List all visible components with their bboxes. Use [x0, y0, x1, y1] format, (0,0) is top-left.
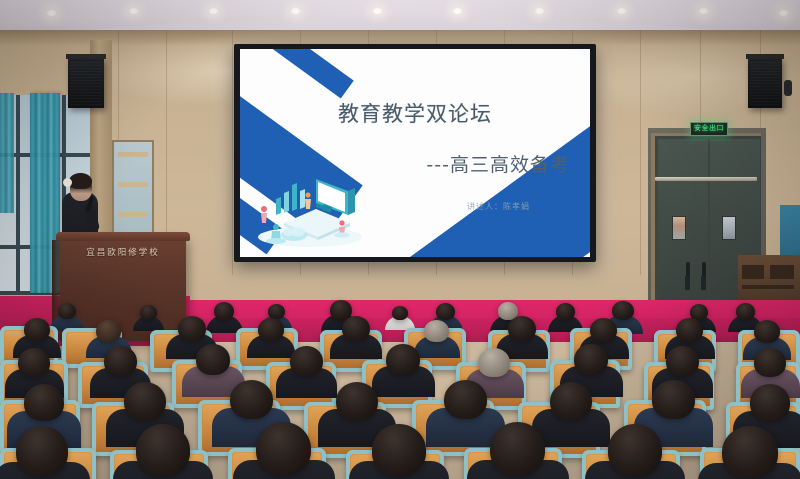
- speaker-grill: [750, 61, 780, 105]
- presenter-hair: [69, 173, 92, 189]
- door-push-bar[interactable]: [655, 177, 757, 181]
- audience-person-head: [490, 422, 545, 475]
- audience-person-head: [444, 380, 487, 419]
- ceiling-downlight: [290, 7, 301, 15]
- slide-presenter: 讲述人：陈孝娟: [240, 201, 530, 212]
- audience-person-head: [24, 384, 64, 421]
- console-shelf: [742, 285, 794, 289]
- ceiling-downlight: [372, 7, 383, 15]
- wall-panel-seam: [232, 30, 233, 275]
- audience-person-head: [104, 346, 137, 376]
- presenter-hair-tie: [63, 178, 72, 187]
- exit-sign-label: 安全出口: [694, 125, 724, 133]
- emergency-exit-sign: 安全出口: [690, 122, 728, 136]
- audience-person-head: [676, 318, 703, 342]
- audience-person-head: [16, 426, 68, 476]
- door-vision-panel-left: [672, 216, 686, 240]
- audience-person-head: [178, 316, 206, 341]
- ceiling-downlight: [128, 7, 139, 15]
- audience-person-head: [372, 424, 426, 476]
- speaker-bracket: [746, 54, 784, 59]
- audience-person-head: [556, 303, 575, 320]
- audience-person-head: [722, 426, 778, 478]
- audience-person-head: [508, 316, 536, 341]
- audience-person-head: [612, 301, 634, 320]
- auditorium-photo: 安全出口: [0, 0, 800, 479]
- audience-person-head: [24, 318, 50, 341]
- console-shelf: [742, 265, 764, 279]
- audience-person-head: [754, 348, 786, 377]
- presentation-slide: 教育教学双论坛 ---高三高效备考 讲述人：陈孝娟: [240, 49, 590, 257]
- audience-person-head: [386, 344, 420, 375]
- door-lock-plate-right[interactable]: [701, 276, 706, 290]
- audience-person-head: [652, 380, 695, 419]
- window-mullion: [16, 95, 20, 295]
- slide-title-wrap: 教育教学双论坛: [240, 101, 590, 127]
- audience-person-head: [550, 382, 592, 420]
- lectern-name-plate-label: 宜昌欧阳修学校: [86, 246, 160, 258]
- door-vision-panel-right: [722, 216, 736, 240]
- speaker-bracket: [66, 54, 106, 59]
- audience-person-head: [58, 303, 76, 319]
- wall-speaker-right: [748, 58, 782, 108]
- audience-person-head: [342, 316, 370, 341]
- audience-person-head: [750, 384, 790, 421]
- audience-person-head: [140, 305, 157, 320]
- projection-screen: 教育教学双论坛 ---高三高效备考 讲述人：陈孝娟: [234, 44, 596, 262]
- audience-person-head: [256, 422, 311, 475]
- window-curtain-far: [0, 93, 14, 213]
- notice-strip: [118, 212, 148, 217]
- audience-person-head: [214, 302, 234, 320]
- wall-panel-seam: [640, 30, 641, 275]
- audience-person-head: [18, 348, 50, 377]
- slide-title: 教育教学双论坛: [240, 101, 590, 127]
- ceiling-downlight: [698, 7, 709, 15]
- audience-person-head: [424, 320, 449, 342]
- speaker-mount: [784, 80, 792, 96]
- ceiling-downlight: [778, 9, 789, 17]
- audience-person-head: [478, 348, 510, 377]
- audience-person-head: [336, 382, 378, 420]
- ceiling-downlight: [46, 9, 57, 17]
- ceiling-downlight: [208, 7, 219, 15]
- notice-strip: [118, 182, 148, 187]
- slide-stripe-top-3: [240, 49, 354, 98]
- audience-person-head: [230, 380, 273, 419]
- console-shelf: [770, 265, 794, 279]
- slide-subtitle: ---高三高效备考: [240, 153, 570, 177]
- audience-person-head: [754, 320, 780, 343]
- audience-person-head: [268, 304, 285, 319]
- ceiling-downlight: [452, 7, 463, 15]
- audience-person-head: [666, 346, 699, 376]
- wall-notice-board: [112, 140, 154, 240]
- wall-speaker-left: [68, 58, 104, 108]
- lectern-name-plate: 宜昌欧阳修学校: [66, 243, 180, 261]
- audience-person-head: [96, 320, 121, 342]
- audience-person-head: [574, 344, 608, 375]
- audience-person-head: [136, 424, 190, 476]
- ceiling-downlight: [534, 7, 545, 15]
- notice-strip: [118, 152, 148, 157]
- audience-person-head: [258, 318, 284, 341]
- speaker-grill: [70, 61, 102, 105]
- audience-person-head: [608, 424, 662, 476]
- ceiling-downlight: [616, 7, 627, 15]
- lectern-top: [56, 232, 190, 241]
- door-lock-plate-left[interactable]: [685, 276, 690, 290]
- audience-person-head: [436, 303, 455, 320]
- audience-person-head: [392, 306, 408, 320]
- audience-person-head: [590, 318, 617, 342]
- audience-person-head: [290, 346, 323, 376]
- audience-person-head: [196, 344, 230, 375]
- audience-person-head: [124, 382, 166, 420]
- audience-person-head: [736, 303, 755, 320]
